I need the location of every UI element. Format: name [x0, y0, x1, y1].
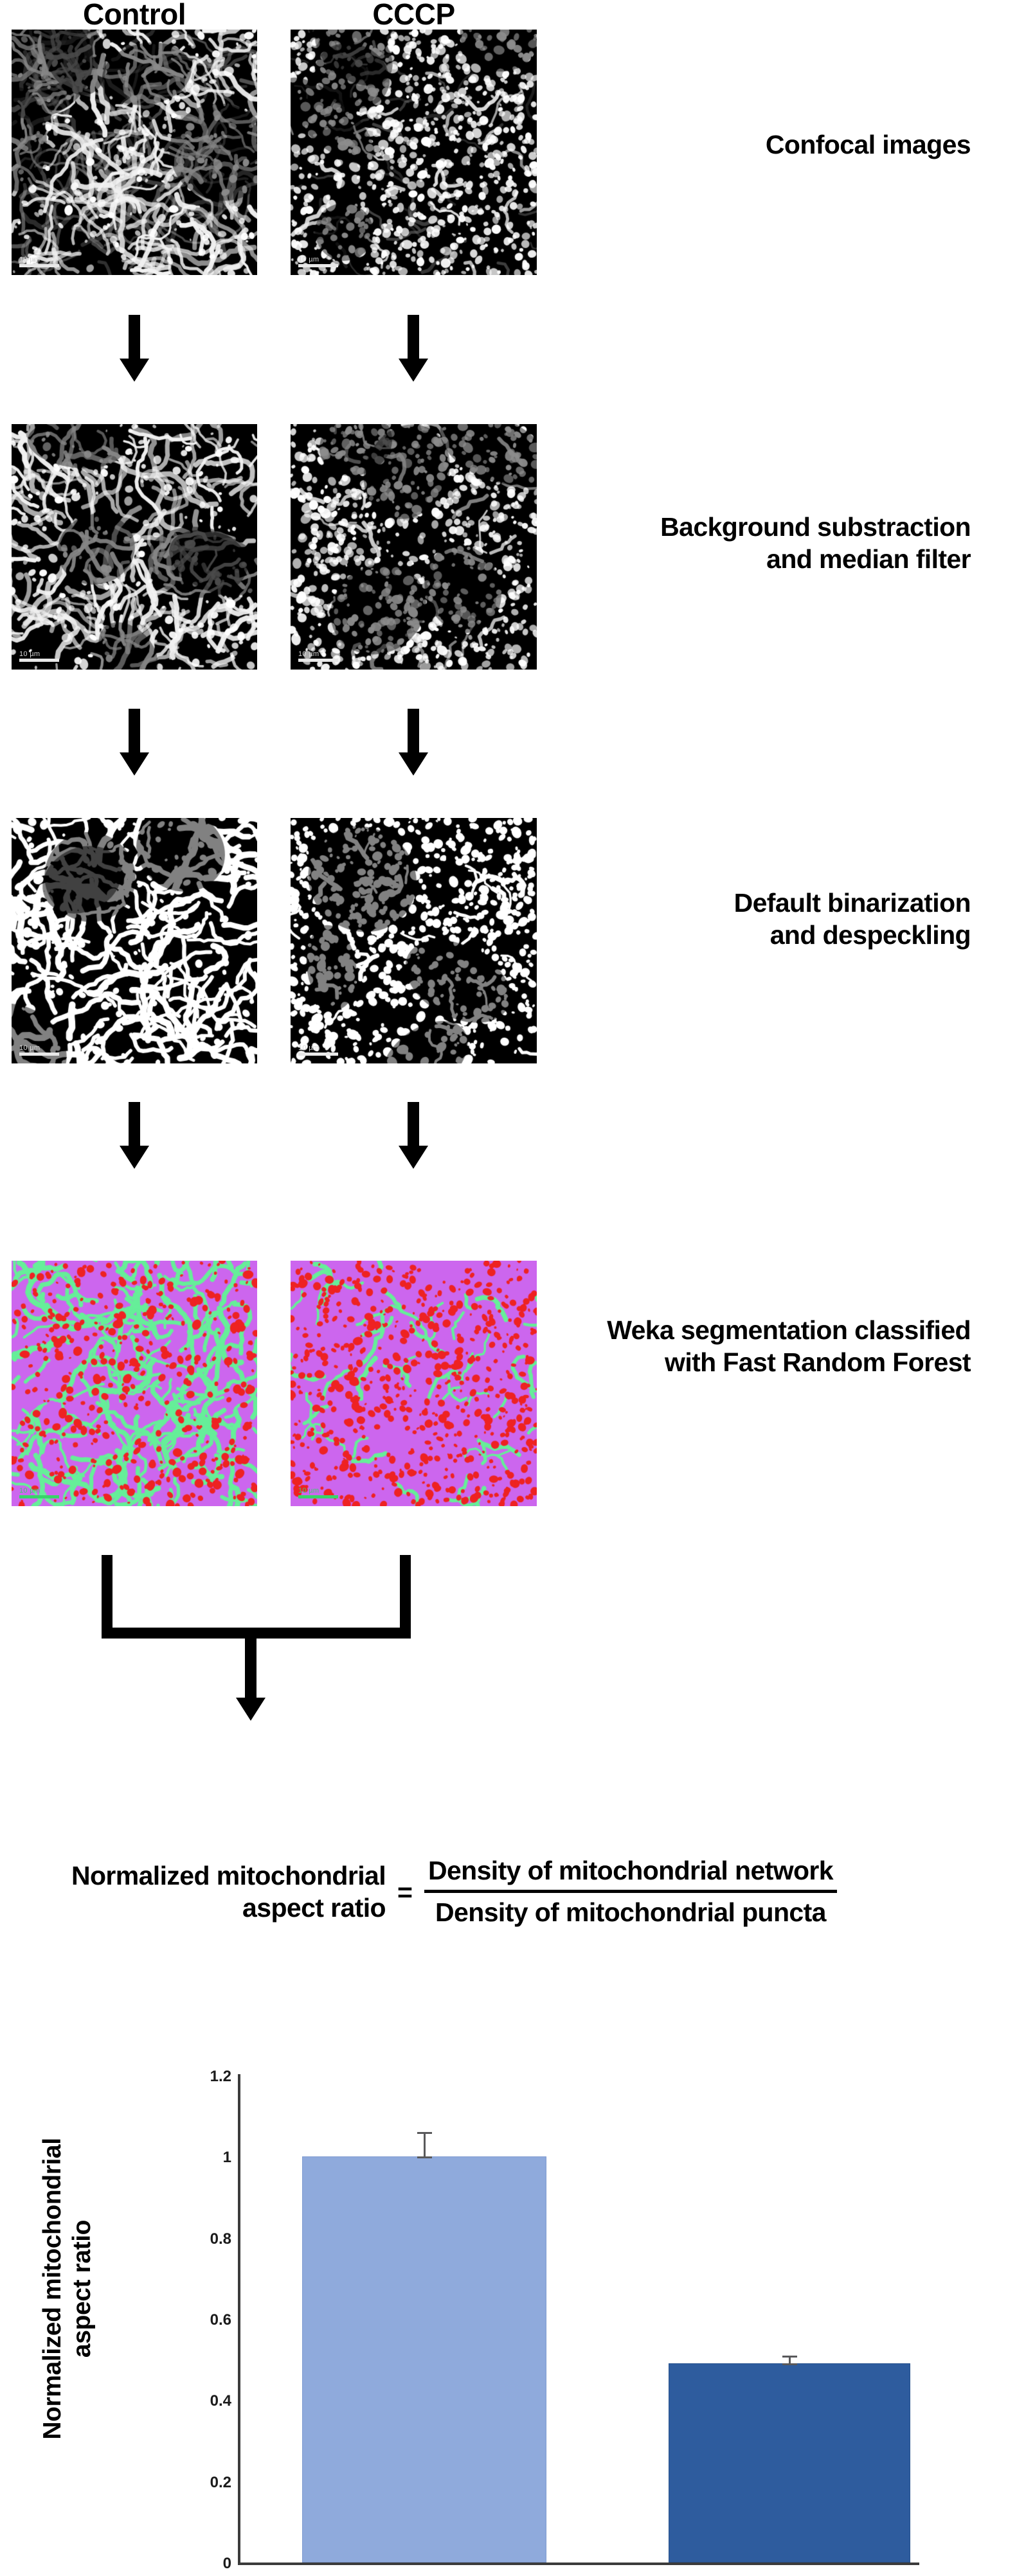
- fraction-denominator: Density of mitochondrial puncta: [424, 1896, 837, 1929]
- fraction-numerator: Density of mitochondrial network: [424, 1854, 837, 1887]
- arrow-down-cccp-1: [399, 315, 428, 382]
- chart-error-cap: [782, 2363, 797, 2365]
- segmented-cccp-texture: [291, 1261, 537, 1506]
- chart-x-axis-line: [238, 2563, 919, 2565]
- chart-y-tick-label: 0.8: [154, 2230, 231, 2248]
- scalebar-background-cccp: 10 µm: [298, 650, 338, 662]
- scalebar-line: [19, 659, 59, 662]
- micrograph-background-control: 10 µm: [12, 424, 257, 670]
- chart-y-axis-line: [238, 2074, 240, 2564]
- chart-y-tick-label: 0.4: [154, 2392, 231, 2410]
- chart-error-bar: [424, 2132, 426, 2158]
- scalebar-line: [298, 1495, 338, 1498]
- background-cccp-texture: [291, 424, 537, 670]
- micrograph-confocal-control: 10 µm: [12, 30, 257, 275]
- chart-bar-control[interactable]: [302, 2156, 546, 2563]
- stage-label-binarization: Default binarization and despeckling: [521, 887, 971, 951]
- micrograph-segmented-control: 10 µm: [12, 1261, 257, 1506]
- segmented-control-texture: [12, 1261, 257, 1506]
- fraction-bar: [424, 1890, 837, 1893]
- chart-y-tick-label: 0.2: [154, 2474, 231, 2492]
- stage-label-background: Background substraction and median filte…: [521, 511, 971, 575]
- arrow-down-cccp-2: [399, 709, 428, 776]
- micrograph-background-cccp: 10 µm: [291, 424, 537, 670]
- scalebar-segmented-cccp: 10 µm: [298, 1487, 338, 1498]
- chart-bar-cccp[interactable]: [669, 2363, 910, 2563]
- binarized-control-texture: [12, 818, 257, 1063]
- equation-fraction: Density of mitochondrial network Density…: [424, 1854, 837, 1929]
- micrograph-binarized-control: 10 µm: [12, 818, 257, 1063]
- figure-root: Control CCCP 10 µm 10 µm Confocal images…: [0, 0, 1035, 2576]
- chart-y-tick-label: 1.2: [154, 2068, 231, 2086]
- scalebar-line: [298, 264, 338, 267]
- confocal-cccp-texture: [291, 30, 537, 275]
- arrow-down-control-3: [120, 1102, 149, 1169]
- bar-chart: Normalized mitochondrial aspect ratio 1.…: [0, 2043, 1035, 2576]
- arrow-down-control-1: [120, 315, 149, 382]
- chart-y-axis-title: Normalized mitochondrial aspect ratio: [38, 2083, 97, 2494]
- scalebar-line: [19, 1053, 59, 1056]
- column-header-control: Control: [12, 0, 257, 31]
- chart-y-tick-label: 0.6: [154, 2311, 231, 2329]
- micrograph-confocal-cccp: 10 µm: [291, 30, 537, 275]
- chart-y-tick-label: 1: [154, 2149, 231, 2167]
- scalebar-segmented-control: 10 µm: [19, 1487, 59, 1498]
- scalebar-background-control: 10 µm: [19, 650, 59, 662]
- chart-error-cap: [417, 2156, 432, 2158]
- scalebar-confocal-control: 10 µm: [19, 256, 59, 267]
- scalebar-binarized-cccp: 10 µm: [298, 1044, 338, 1056]
- arrow-down-cccp-3: [399, 1102, 428, 1169]
- column-header-cccp: CCCP: [291, 0, 537, 31]
- scalebar-line: [298, 1053, 338, 1056]
- micrograph-segmented-cccp: 10 µm: [291, 1261, 537, 1506]
- scalebar-line: [19, 264, 59, 267]
- equation-block: Normalized mitochondrial aspect ratio = …: [0, 1854, 1035, 1929]
- stage-label-confocal: Confocal images: [521, 129, 971, 161]
- chart-y-axis-ticks: 1.210.80.60.40.20: [154, 2043, 231, 2576]
- scalebar-line: [298, 659, 338, 662]
- micrograph-binarized-cccp: 10 µm: [291, 818, 537, 1063]
- merge-bracket: [0, 1555, 579, 1728]
- scalebar-line: [19, 1495, 59, 1498]
- chart-error-cap: [417, 2132, 432, 2134]
- equals-sign: =: [397, 1875, 413, 1908]
- background-control-texture: [12, 424, 257, 670]
- binarized-cccp-texture: [291, 818, 537, 1063]
- equation-left-side: Normalized mitochondrial aspect ratio: [0, 1860, 386, 1924]
- arrow-down-control-2: [120, 709, 149, 776]
- chart-error-cap: [782, 2356, 797, 2358]
- scalebar-binarized-control: 10 µm: [19, 1044, 59, 1056]
- chart-y-tick-label: 0: [154, 2555, 231, 2573]
- confocal-control-texture: [12, 30, 257, 275]
- stage-label-weka: Weka segmentation classified with Fast R…: [508, 1314, 971, 1378]
- scalebar-confocal-cccp: 10 µm: [298, 256, 338, 267]
